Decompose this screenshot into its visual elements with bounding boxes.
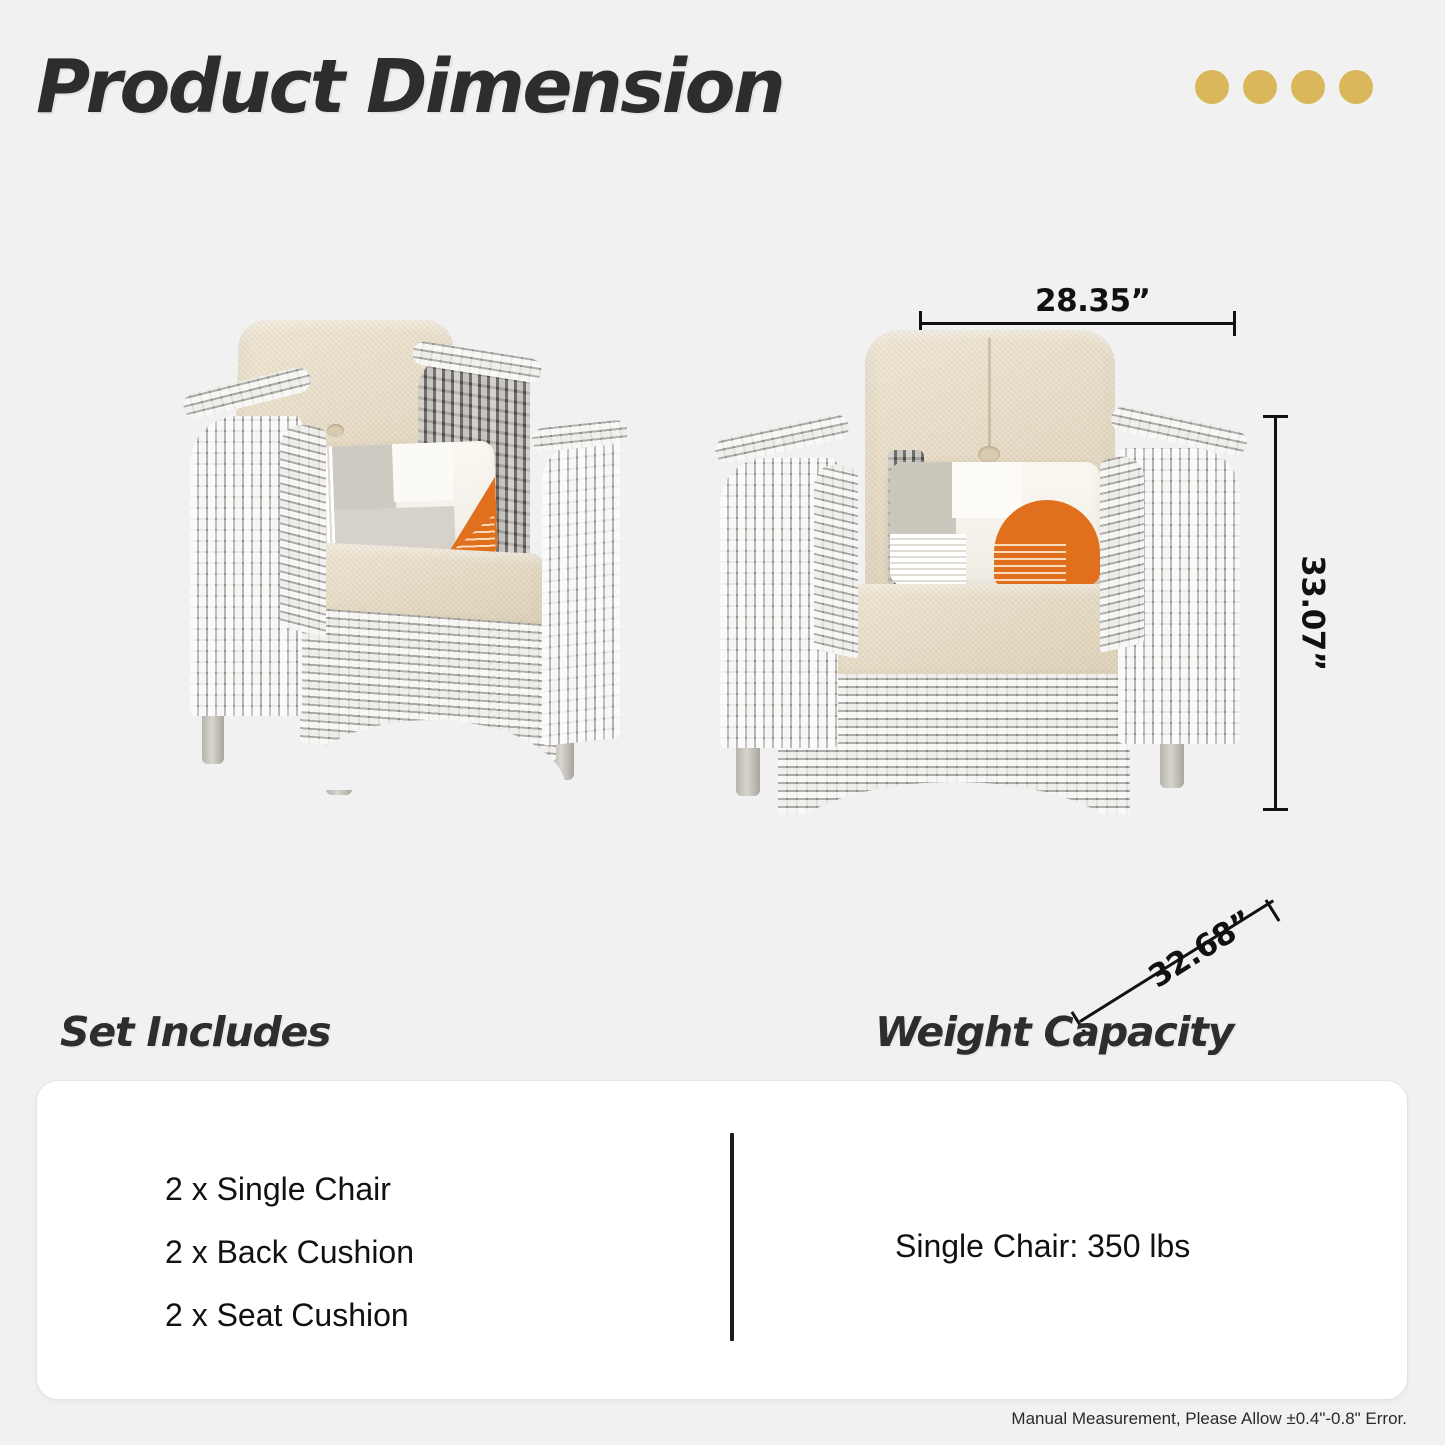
tuft-button-left — [327, 424, 344, 437]
page-title: Product Dimension — [36, 44, 783, 130]
pillow-white-block — [392, 442, 454, 502]
dot-icon-1 — [1195, 70, 1229, 104]
dot-icon-2 — [1243, 70, 1277, 104]
seat-cushion-right — [830, 584, 1130, 688]
right-side-panel-left — [542, 438, 620, 746]
dimension-width-label: 28.35” — [1035, 283, 1150, 319]
right-arm-inner-right — [1100, 451, 1144, 653]
pillow-stripe-panel — [890, 534, 966, 586]
tuft-button-right — [978, 446, 1000, 463]
dimension-width-cap-right — [1233, 311, 1236, 336]
dimension-height-cap-top — [1263, 415, 1288, 418]
list-item: 2 x Single Chair — [165, 1158, 414, 1221]
decorative-pillow-right — [890, 462, 1100, 586]
pillow-orange-lines — [994, 540, 1066, 586]
dot-icon-3 — [1291, 70, 1325, 104]
weight-capacity-value: Single Chair: 350 lbs — [895, 1228, 1190, 1265]
dot-icon-4 — [1339, 70, 1373, 104]
set-includes-list: 2 x Single Chair 2 x Back Cushion 2 x Se… — [165, 1158, 414, 1347]
list-item: 2 x Back Cushion — [165, 1221, 414, 1284]
dimension-width-line — [920, 322, 1236, 325]
dimension-depth-label: 32.68” — [1142, 904, 1259, 996]
product-image-stage: 28.35” 33.07” 32.68” — [0, 180, 1445, 980]
list-item: 2 x Seat Cushion — [165, 1284, 414, 1347]
dimension-height-label: 33.07” — [1295, 555, 1331, 670]
weight-capacity-heading: Weight Capacity — [875, 1008, 1233, 1056]
pillow-gray-block — [890, 462, 956, 536]
pillow-gray-block — [332, 444, 396, 512]
pillow-white-block — [952, 462, 1022, 518]
product-dimension-infographic: Product Dimension — [0, 0, 1445, 1445]
card-divider — [730, 1133, 734, 1341]
dimension-height-line — [1274, 416, 1277, 810]
near-arm-inner-left — [280, 418, 326, 637]
set-includes-heading: Set Includes — [60, 1008, 330, 1056]
chair-right — [720, 330, 1240, 840]
measurement-disclaimer: Manual Measurement, Please Allow ±0.4"-0… — [1011, 1409, 1407, 1429]
chair-left — [180, 320, 660, 830]
dimension-height-cap-bottom — [1263, 808, 1288, 811]
left-arm-inner-right — [814, 459, 858, 659]
decorative-dots — [1195, 70, 1373, 104]
